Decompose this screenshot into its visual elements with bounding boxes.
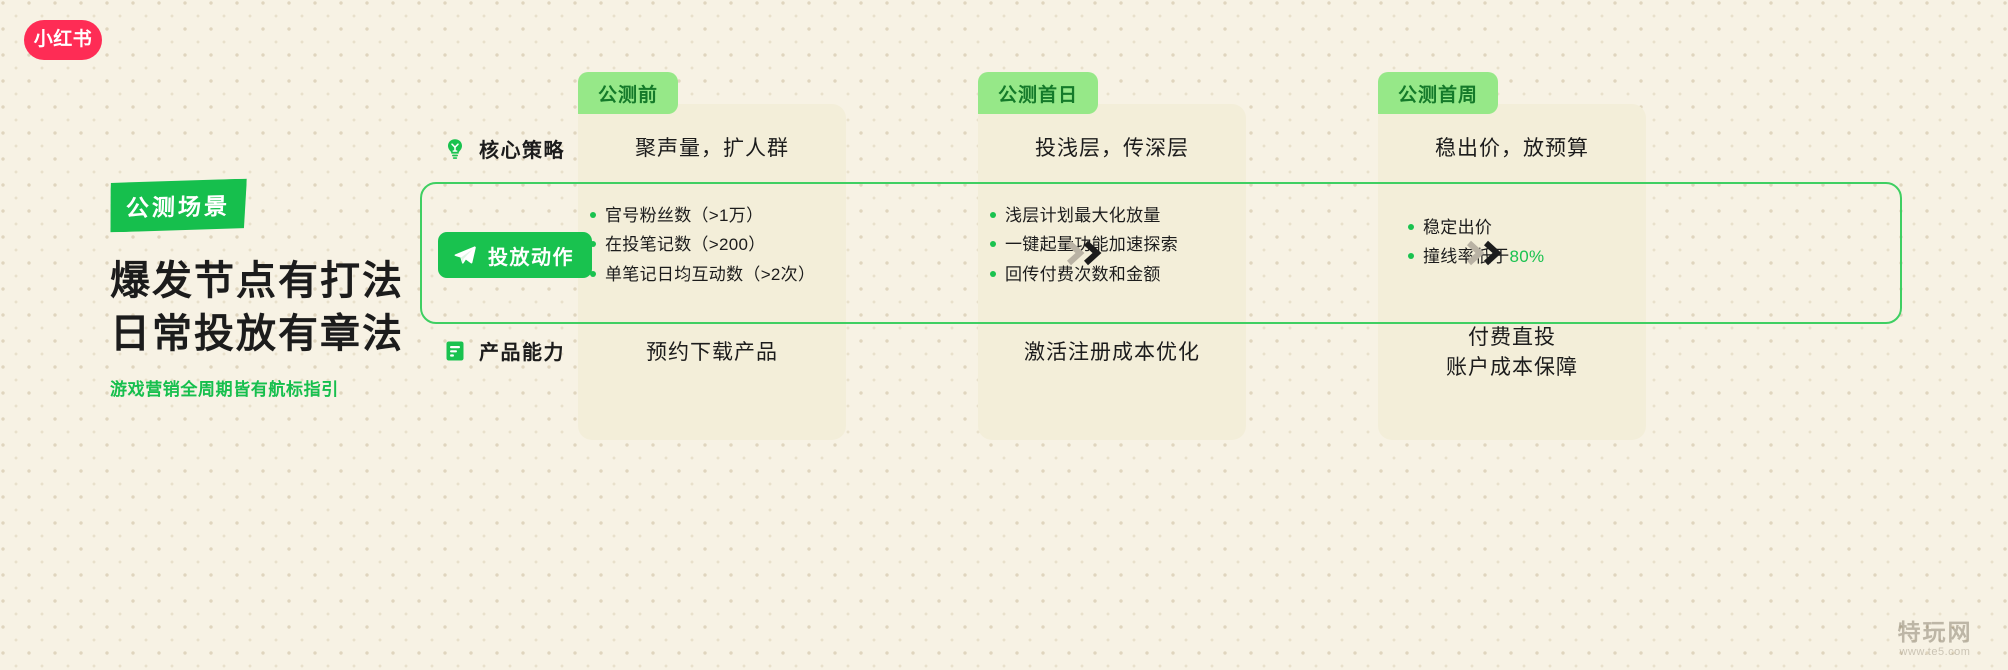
bullet-text: 回传付费次数和金额 bbox=[1005, 265, 1161, 285]
strategy-matrix: 公测前 公测首日 公测首周 核心策略 聚 bbox=[430, 72, 1950, 502]
page-title: 爆发节点有打法 日常投放有章法 bbox=[110, 255, 440, 361]
lightbulb-icon bbox=[442, 136, 468, 162]
row-label-text: 核心策略 bbox=[479, 134, 565, 163]
double-chevron-right-icon-1 bbox=[1466, 240, 1510, 266]
bullet-list-col1: 浅层计划最大化放量 一键起量功能加速探索 回传付费次数和金额 bbox=[990, 206, 1290, 285]
cell-text: 投浅层，传深层 bbox=[1035, 134, 1189, 164]
xiaohongshu-logo: 小红书 bbox=[24, 20, 102, 60]
cell-core-strategy-col2: 稳出价，放预算 bbox=[1378, 134, 1646, 164]
cell-text: 预约下载产品 bbox=[646, 338, 778, 368]
row-label-product-capability: 产品能力 bbox=[442, 336, 565, 365]
paper-plane-icon bbox=[452, 242, 478, 268]
bullet-text: 稳定出价 bbox=[1423, 218, 1492, 238]
bullet-highlight-value: 80% bbox=[1510, 247, 1545, 266]
cell-core-strategy-col1: 投浅层，传深层 bbox=[978, 134, 1246, 164]
bullet-list-col2: 稳定出价 撞线率低于80% bbox=[1408, 218, 1708, 268]
watermark-url: www.te5.com bbox=[1880, 646, 1990, 658]
bullet-text: 在投笔记数（>200） bbox=[605, 235, 766, 255]
column-header-2: 公测首周 bbox=[1378, 72, 1498, 114]
bullet-dot-icon bbox=[990, 271, 996, 277]
column-header-label: 公测首日 bbox=[998, 80, 1078, 107]
list-item: 回传付费次数和金额 bbox=[990, 265, 1290, 285]
column-header-label: 公测首周 bbox=[1398, 80, 1478, 107]
bullet-text: 单笔记日均互动数（>2次） bbox=[605, 265, 815, 285]
headline-line-1: 爆发节点有打法 bbox=[110, 255, 440, 308]
cell-text: 付费直投 账户成本保障 bbox=[1446, 323, 1578, 384]
cell-product-capability-col2: 付费直投 账户成本保障 bbox=[1378, 322, 1646, 384]
bullet-dot-icon bbox=[590, 212, 596, 218]
logo-text: 小红书 bbox=[34, 30, 93, 49]
bullet-dot-icon bbox=[1408, 224, 1414, 230]
list-item: 撞线率低于80% bbox=[1408, 247, 1708, 267]
headline-block: 公测场景 爆发节点有打法 日常投放有章法 游戏营销全周期皆有航标指引 bbox=[110, 180, 440, 400]
watermark-brand: 特玩网 bbox=[1880, 621, 1990, 644]
cell-product-capability-col1: 激活注册成本优化 bbox=[978, 322, 1246, 384]
column-header-0: 公测前 bbox=[578, 72, 678, 114]
cell-product-capability-col0: 预约下载产品 bbox=[578, 322, 846, 384]
watermark: 特玩网 www.te5.com bbox=[1880, 621, 1990, 658]
column-header-1: 公测首日 bbox=[978, 72, 1098, 114]
bullet-dot-icon bbox=[1408, 253, 1414, 259]
column-header-label: 公测前 bbox=[598, 80, 658, 107]
row-label-text: 产品能力 bbox=[479, 336, 565, 365]
headline-line-2: 日常投放有章法 bbox=[110, 308, 440, 361]
row-label-delivery-action: 投放动作 bbox=[438, 232, 592, 278]
bullet-dot-icon bbox=[590, 271, 596, 277]
list-item: 稳定出价 bbox=[1408, 218, 1708, 238]
list-item: 官号粉丝数（>1万） bbox=[590, 206, 890, 226]
scene-tag: 公测场景 bbox=[109, 179, 247, 233]
list-item: 在投笔记数（>200） bbox=[590, 235, 890, 255]
cell-text: 稳出价，放预算 bbox=[1435, 134, 1589, 164]
bullet-dot-icon bbox=[990, 212, 996, 218]
list-item: 单笔记日均互动数（>2次） bbox=[590, 265, 890, 285]
list-item: 浅层计划最大化放量 bbox=[990, 206, 1290, 226]
cell-text: 聚声量，扩人群 bbox=[635, 134, 789, 164]
page-subtitle: 游戏营销全周期皆有航标指引 bbox=[110, 375, 440, 400]
bullet-text: 浅层计划最大化放量 bbox=[1005, 206, 1161, 226]
double-chevron-right-icon-0 bbox=[1066, 240, 1110, 266]
bullet-dot-icon bbox=[590, 241, 596, 247]
list-item: 一键起量功能加速探索 bbox=[990, 235, 1290, 255]
cell-core-strategy-col0: 聚声量，扩人群 bbox=[578, 134, 846, 164]
cell-text: 激活注册成本优化 bbox=[1024, 338, 1200, 368]
bullet-dot-icon bbox=[990, 241, 996, 247]
poster-canvas: 小红书 公测场景 爆发节点有打法 日常投放有章法 游戏营销全周期皆有航标指引 公… bbox=[0, 0, 2008, 670]
bullet-list-col0: 官号粉丝数（>1万） 在投笔记数（>200） 单笔记日均互动数（>2次） bbox=[590, 206, 890, 285]
bullet-text: 官号粉丝数（>1万） bbox=[605, 206, 763, 226]
document-lines-icon bbox=[442, 338, 468, 364]
row-label-text: 投放动作 bbox=[488, 241, 574, 270]
row-label-core-strategy: 核心策略 bbox=[442, 134, 565, 163]
